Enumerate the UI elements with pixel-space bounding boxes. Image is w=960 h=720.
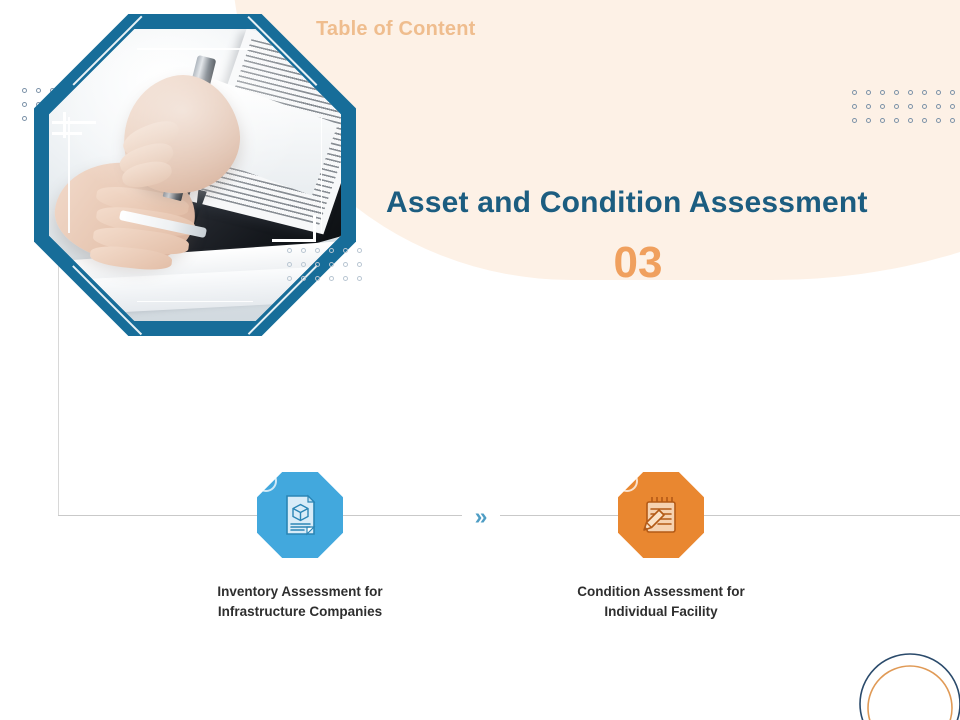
step-caption: Inventory Assessment for Infrastructure …	[200, 582, 400, 621]
corner-arc-decoration	[850, 642, 960, 720]
dot-grid-photo-overlay	[287, 248, 362, 281]
badge-ring-accent	[255, 470, 277, 492]
bracket-accent-top-left	[52, 121, 96, 124]
step-badge[interactable]	[618, 472, 704, 558]
hero-photo-octagon	[34, 14, 356, 336]
section-number: 03	[386, 238, 890, 288]
step-item-condition-assessment[interactable]: Condition Assessment for Individual Faci…	[561, 472, 761, 621]
step-item-inventory-assessment[interactable]: Inventory Assessment for Infrastructure …	[200, 472, 400, 621]
step-caption: Condition Assessment for Individual Faci…	[561, 582, 761, 621]
frame-horizontal-line	[58, 515, 960, 516]
bracket-accent-bottom-right-2	[313, 215, 316, 241]
step-caption-line2: Individual Facility	[561, 602, 761, 622]
notepad-pencil-icon	[638, 492, 684, 538]
slide-canvas: Table of Content Asset and Condition Ass…	[0, 0, 960, 720]
step-caption-line1: Inventory Assessment for	[200, 582, 400, 602]
step-caption-line1: Condition Assessment for	[561, 582, 761, 602]
page-title: Asset and Condition Assessment	[386, 186, 868, 220]
badge-ring-accent	[616, 470, 638, 492]
step-badge[interactable]	[257, 472, 343, 558]
bracket-accent-top-left-2	[52, 132, 82, 135]
bracket-accent-bottom-right	[272, 239, 316, 242]
step-caption-line2: Infrastructure Companies	[200, 602, 400, 622]
bracket-accent-top-left-3	[63, 112, 66, 138]
document-box-icon	[277, 492, 323, 538]
chevron-right-icon: »	[462, 500, 500, 532]
dot-grid-right	[852, 90, 955, 123]
